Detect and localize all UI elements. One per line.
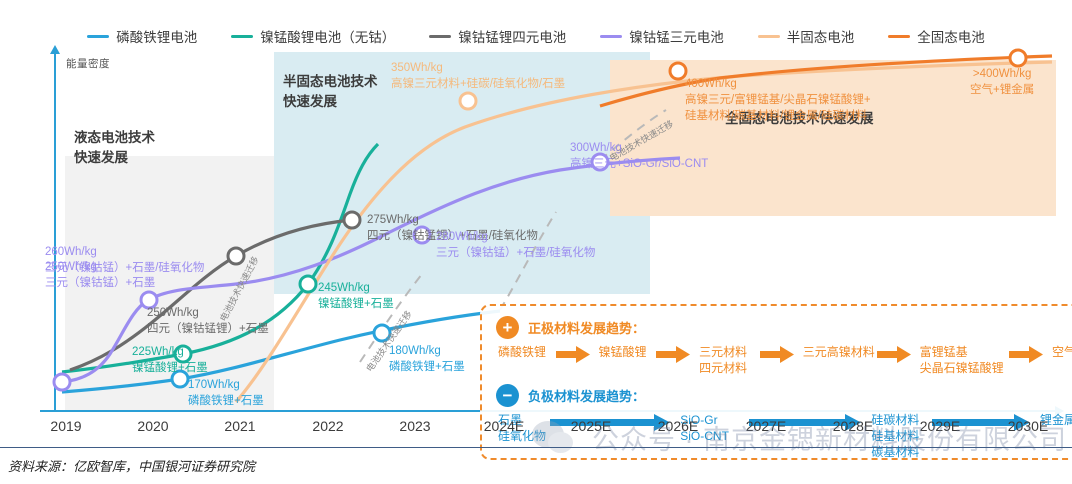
legend-item-semi-solid[interactable]: 半固态电池: [758, 26, 855, 46]
positive-step-2-l1: 三元材料: [699, 344, 760, 360]
callout-ternary-300-material: 高镍三元+SiO-Gr/SiO-CNT: [570, 156, 708, 172]
callout-lnmo-245-material: 镍锰酸锂+石墨: [318, 296, 394, 312]
callout-quaternary-275-value: 275Wh/kg: [367, 212, 538, 228]
legend-label-lfp: 磷酸铁锂电池: [116, 26, 197, 46]
callout-solid-400plus-material: 空气+锂金属: [970, 82, 1034, 98]
callout-ternary-280-material: 三元（镍钴锰）+石墨/硅氧化物: [436, 245, 595, 261]
callout-solid-400-material2: 硅基材料/碳基材料/锂金属/硅碳材料: [685, 108, 871, 124]
legend-swatch-semi-solid: [758, 35, 780, 38]
arrow-icon-pos-2: [760, 346, 794, 363]
positive-step-0: 磷酸铁锂: [498, 344, 556, 360]
x-tick-2020: 2020: [137, 418, 168, 434]
point-lnmo-245[interactable]: [299, 275, 318, 294]
callout-solid-400-value: 400Wh/kg: [685, 76, 871, 92]
point-quaternary-275[interactable]: [343, 211, 362, 230]
positive-step-4-l1: 富锂锰基: [920, 344, 1009, 360]
callout-ternary-260-value: 260Wh/kg: [45, 244, 204, 260]
positive-step-1: 镍锰酸锂: [599, 344, 657, 360]
legend-item-quaternary[interactable]: 镍钴锰锂四元电池: [429, 26, 566, 46]
positive-step-5: 空气: [1052, 344, 1072, 360]
callout-lfp-170: 170Wh/kg 磷酸铁锂+石墨: [188, 377, 264, 409]
x-tick-2029E: 2029E: [920, 418, 960, 434]
callout-lfp-170-value: 170Wh/kg: [188, 377, 264, 393]
callout-lnmo-245: 245Wh/kg 镍锰酸锂+石墨: [318, 280, 394, 312]
callout-solid-400: 400Wh/kg 高镍三元/富锂锰基/尖晶石镍锰酸锂+ 硅基材料/碳基材料/锂金…: [685, 76, 871, 124]
callout-ternary-280: 280Wh/kg 三元（镍钴锰）+石墨/硅氧化物: [436, 229, 595, 261]
legend-label-lnmo: 镍锰酸锂电池（无钴）: [260, 26, 395, 46]
callout-solid-400-material: 高镍三元/富锂锰基/尖晶石镍锰酸锂+: [685, 92, 871, 108]
positive-step-2-l2: 四元材料: [699, 360, 760, 376]
positive-step-4: 富锂锰基 尖晶石镍锰酸锂: [920, 344, 1009, 376]
x-tick-2027E: 2027E: [746, 418, 786, 434]
callout-lnmo-245-value: 245Wh/kg: [318, 280, 394, 296]
callout-ternary-250-material: 三元（镍钴锰）+石墨: [45, 275, 155, 291]
arrow-icon-pos-3: [877, 346, 911, 363]
legend-item-lnmo[interactable]: 镍锰酸锂电池（无钴）: [231, 26, 395, 46]
callout-solid-400plus: >400Wh/kg 空气+锂金属: [970, 66, 1034, 98]
positive-step-5-l1: 空气: [1052, 344, 1072, 360]
arrow-icon-pos-0: [556, 346, 590, 363]
callout-lfp-180-value: 180Wh/kg: [389, 343, 465, 359]
x-tick-2023: 2023: [399, 418, 430, 434]
legend-label-all-solid: 全固态电池: [917, 26, 985, 46]
x-tick-2030E: 2030E: [1008, 418, 1048, 434]
x-tick-2019: 2019: [50, 418, 81, 434]
callout-lnmo-225-material: 镍锰酸锂+石墨: [132, 360, 208, 376]
positive-step-4-l2: 尖晶石镍锰酸锂: [920, 360, 1009, 376]
source-note: 资料来源：亿欧智库，中国银河证券研究院: [8, 456, 255, 475]
positive-step-0-l1: 磷酸铁锂: [498, 344, 556, 360]
positive-title: 正极材料发展趋势：: [528, 318, 645, 337]
x-tick-2025E: 2025E: [571, 418, 611, 434]
legend-swatch-quaternary: [429, 35, 451, 38]
legend-swatch-all-solid: [888, 35, 910, 38]
point-semi-350[interactable]: [459, 92, 478, 111]
callout-solid-400plus-value: >400Wh/kg: [970, 66, 1034, 82]
positive-step-1-l1: 镍锰酸锂: [599, 344, 657, 360]
legend-item-ternary[interactable]: 镍钴锰三元电池: [600, 26, 724, 46]
x-tick-2024E: 2024E: [484, 418, 524, 434]
callout-lnmo-225-value: 225Wh/kg: [132, 344, 208, 360]
legend-label-semi-solid: 半固态电池: [787, 26, 855, 46]
callout-lfp-170-material: 磷酸铁锂+石墨: [188, 393, 264, 409]
point-quaternary-250[interactable]: [227, 247, 246, 266]
callout-lfp-180-material: 磷酸铁锂+石墨: [389, 359, 465, 375]
x-tick-2022: 2022: [312, 418, 343, 434]
callout-quaternary-250-material: 四元（镍钴锰锂）+石墨: [147, 321, 269, 337]
negative-title: 负极材料发展趋势：: [528, 386, 645, 405]
footer-divider: [0, 447, 1072, 448]
callout-semi-350-value: 350Wh/kg: [391, 60, 565, 76]
callout-ternary-260: 260Wh/kg 三元（镍钴锰）+石墨/硅氧化物: [45, 244, 204, 276]
x-tick-2028E: 2028E: [833, 418, 873, 434]
legend-label-quaternary: 镍钴锰锂四元电池: [458, 26, 566, 46]
arrow-icon-pos-1: [656, 346, 690, 363]
positive-step-2: 三元材料 四元材料: [699, 344, 760, 376]
point-solid-400plus[interactable]: [1009, 49, 1028, 68]
plot-area: 液态电池技术 快速发展 半固态电池技术 快速发展 全固态电池技术快速发展 能量密…: [40, 52, 1056, 412]
positive-flow: 磷酸铁锂 镍锰酸锂 三元材料 四元材料 三元高镍材料: [498, 344, 1072, 376]
callout-quaternary-250-value: 250Wh/kg: [147, 305, 269, 321]
legend-item-all-solid[interactable]: 全固态电池: [888, 26, 985, 46]
callout-ternary-260-material: 三元（镍钴锰）+石墨/硅氧化物: [45, 260, 204, 276]
callout-semi-350: 350Wh/kg 高镍三元材料+硅碳/硅氧化物/石墨: [391, 60, 565, 92]
legend-swatch-ternary: [600, 35, 622, 38]
x-tick-2021: 2021: [224, 418, 255, 434]
chart-root: 磷酸铁锂电池 镍锰酸锂电池（无钴） 镍钴锰锂四元电池 镍钴锰三元电池 半固态电池…: [0, 0, 1072, 484]
minus-icon: −: [496, 384, 519, 407]
chart-legend: 磷酸铁锂电池 镍锰酸锂电池（无钴） 镍钴锰锂四元电池 镍钴锰三元电池 半固态电池…: [0, 24, 1072, 48]
plus-icon: +: [496, 316, 519, 339]
callout-ternary-280-value: 280Wh/kg: [436, 229, 595, 245]
legend-swatch-lnmo: [231, 35, 253, 38]
negative-header: − 负极材料发展趋势：: [496, 384, 1072, 407]
callout-lnmo-225: 225Wh/kg 镍锰酸锂+石墨: [132, 344, 208, 376]
positive-step-3: 三元高镍材料: [803, 344, 877, 360]
legend-swatch-lfp: [87, 35, 109, 38]
point-ternary-260[interactable]: [53, 373, 72, 392]
legend-label-ternary: 镍钴锰三元电池: [629, 26, 724, 46]
callout-semi-350-material: 高镍三元材料+硅碳/硅氧化物/石墨: [391, 76, 565, 92]
callout-quaternary-250: 250Wh/kg 四元（镍钴锰锂）+石墨: [147, 305, 269, 337]
positive-header: + 正极材料发展趋势：: [496, 316, 1072, 339]
callout-lfp-180: 180Wh/kg 磷酸铁锂+石墨: [389, 343, 465, 375]
x-tick-2026E: 2026E: [658, 418, 698, 434]
positive-step-3-l1: 三元高镍材料: [803, 344, 877, 360]
legend-item-lfp[interactable]: 磷酸铁锂电池: [87, 26, 197, 46]
arrow-icon-pos-4: [1009, 346, 1043, 363]
positive-material-row: + 正极材料发展趋势： 磷酸铁锂 镍锰酸锂 三元材料 四元材料: [496, 316, 1072, 376]
x-axis-ticks: 2019 2020 2021 2022 2023 2024E 2025E 202…: [40, 418, 1056, 438]
